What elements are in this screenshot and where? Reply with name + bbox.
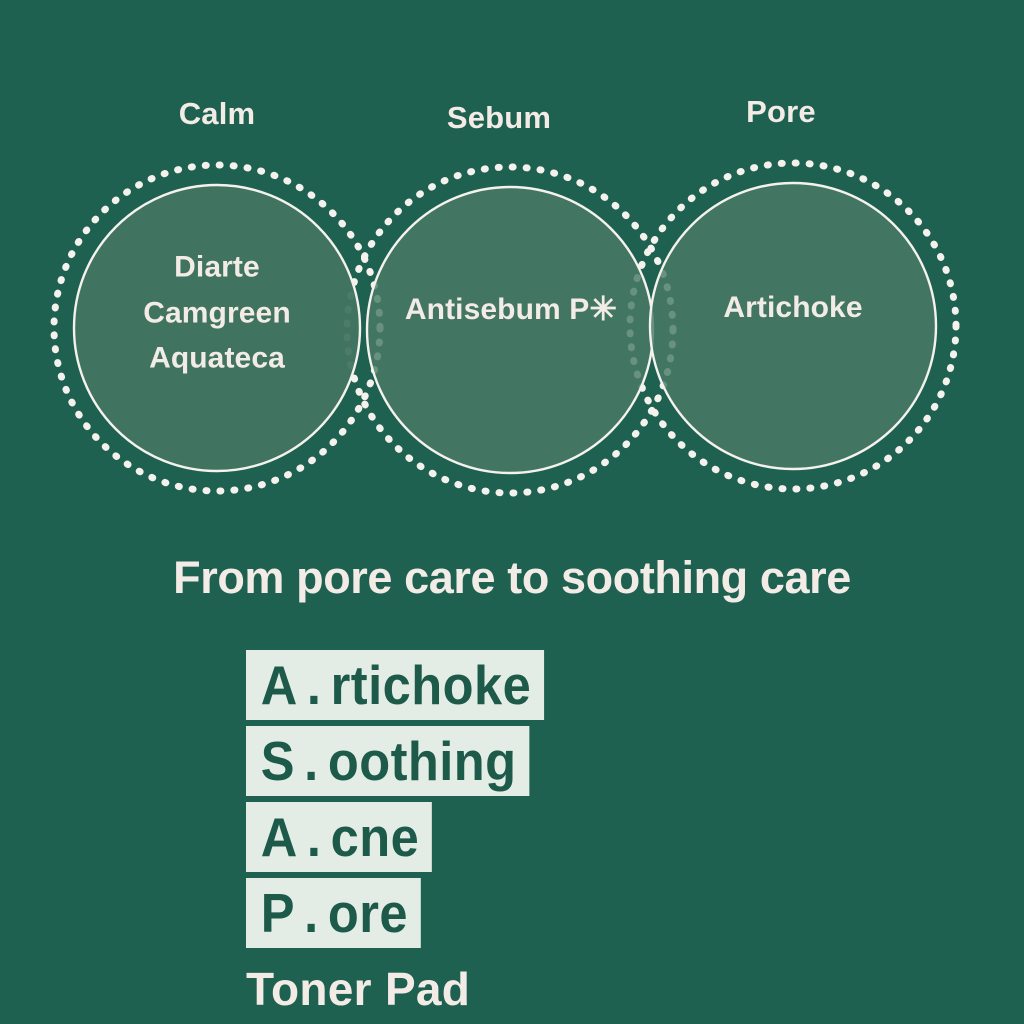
acronym-initial: S — [261, 734, 295, 789]
page-headline: From pore care to soothing care — [0, 552, 1024, 604]
acronym-row: S.oothing — [246, 726, 866, 796]
venn-diagram: Calm Sebum Pore Diarte Camgreen Aquateca… — [0, 0, 1024, 520]
acronym-initial: A — [261, 658, 298, 713]
acronym-dot: . — [298, 810, 325, 865]
acronym-dot: . — [295, 886, 322, 941]
acronym-row: A.rtichoke — [246, 650, 866, 720]
venn-body-calm-line-3: Aquateca — [143, 336, 291, 382]
acronym-list: A.rtichoke S.oothing A.cne * P.ore — [246, 650, 866, 954]
acronym-box-soothing: S.oothing — [246, 726, 529, 796]
product-name: Toner Pad — [246, 962, 470, 1016]
acronym-initial: P — [261, 886, 295, 941]
venn-body-pore: Artichoke — [723, 285, 862, 331]
venn-body-sebum: Antisebum P✳ — [405, 287, 617, 333]
asterisk-icon: ✳ — [589, 290, 617, 327]
acronym-box-artichoke: A.rtichoke — [246, 650, 544, 720]
acronym-rest: cne — [325, 810, 419, 865]
acronym-rest: oothing — [322, 734, 516, 789]
venn-body-calm-line-2: Camgreen — [143, 290, 291, 336]
venn-label-calm: Calm — [179, 96, 256, 132]
acronym-initial: A — [261, 810, 298, 865]
infographic-canvas: Calm Sebum Pore Diarte Camgreen Aquateca… — [0, 0, 1024, 1024]
acronym-rest: ore — [322, 886, 408, 941]
acronym-dot: . — [295, 734, 322, 789]
acronym-box-pore: P.ore — [246, 878, 421, 948]
acronym-row: P.ore — [246, 878, 866, 948]
acronym-row: A.cne * — [246, 802, 866, 872]
venn-body-calm-line-1: Diarte — [143, 245, 291, 291]
acronym-box-acne: A.cne — [246, 802, 432, 872]
venn-label-pore: Pore — [746, 94, 816, 130]
venn-body-sebum-text: Antisebum P — [405, 293, 589, 326]
venn-body-pore-text: Artichoke — [723, 291, 862, 324]
acronym-dot: . — [298, 658, 325, 713]
acronym-rest: rtichoke — [325, 658, 531, 713]
venn-label-sebum: Sebum — [447, 100, 551, 136]
venn-body-calm: Diarte Camgreen Aquateca — [143, 245, 291, 382]
